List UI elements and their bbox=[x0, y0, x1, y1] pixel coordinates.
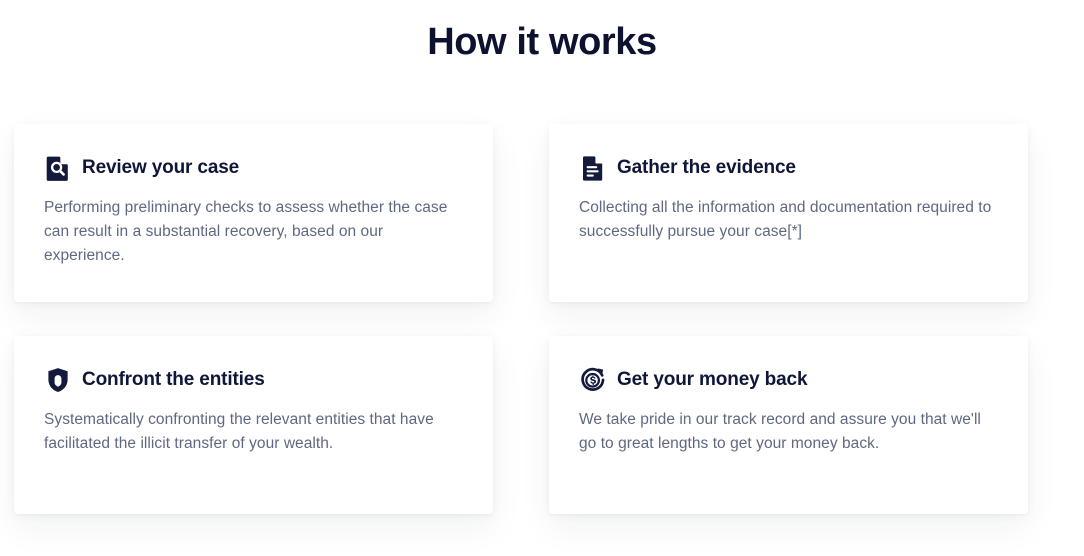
step-card-title: Confront the entities bbox=[82, 367, 265, 393]
step-card-header: Gather the evidence bbox=[579, 154, 998, 182]
step-card-review-your-case[interactable]: Review your case Performing preliminary … bbox=[14, 124, 493, 302]
step-card-gather-the-evidence[interactable]: Gather the evidence Collecting all the i… bbox=[549, 124, 1028, 302]
page-title: How it works bbox=[0, 0, 1084, 66]
step-card-title: Review your case bbox=[82, 155, 239, 181]
step-card-get-your-money-back[interactable]: Get your money back We take pride in our… bbox=[549, 336, 1028, 514]
document-text-icon bbox=[579, 154, 607, 182]
step-card-description: Collecting all the information and docum… bbox=[579, 196, 998, 244]
step-card-title: Gather the evidence bbox=[617, 155, 796, 181]
step-card-title: Get your money back bbox=[617, 367, 807, 393]
step-card-header: Review your case bbox=[44, 154, 463, 182]
step-card-description: Performing preliminary checks to assess … bbox=[44, 196, 463, 268]
step-card-description: We take pride in our track record and as… bbox=[579, 408, 998, 456]
step-card-description: Systematically confronting the relevant … bbox=[44, 408, 463, 456]
money-back-icon bbox=[579, 366, 607, 394]
steps-grid: Review your case Performing preliminary … bbox=[14, 124, 1070, 514]
step-card-header: Confront the entities bbox=[44, 366, 463, 394]
step-card-header: Get your money back bbox=[579, 366, 998, 394]
document-search-icon bbox=[44, 154, 72, 182]
shield-icon bbox=[44, 366, 72, 394]
how-it-works-section: How it works Review your case Performing… bbox=[0, 0, 1084, 556]
step-card-confront-the-entities[interactable]: Confront the entities Systematically con… bbox=[14, 336, 493, 514]
